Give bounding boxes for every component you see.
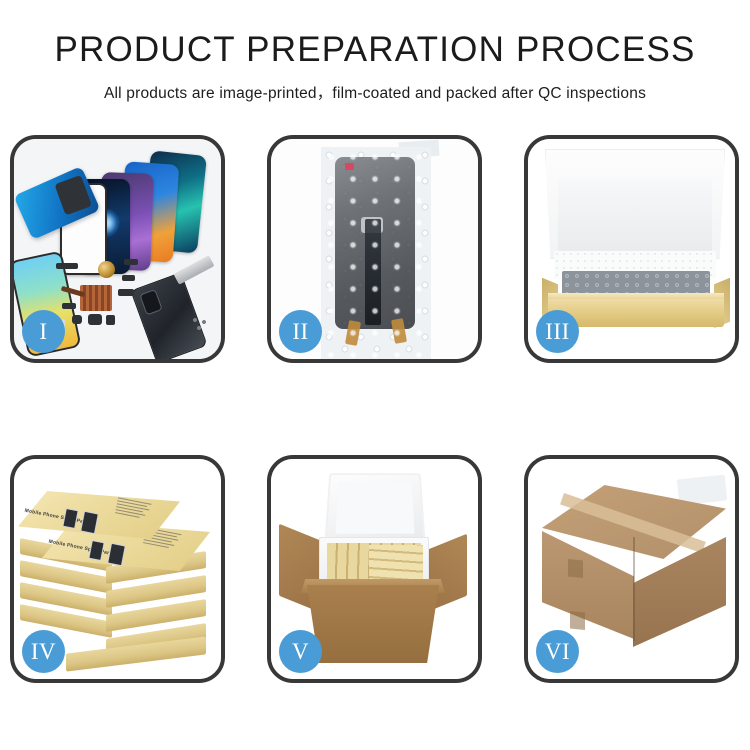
carton-handle-tab-upper-icon bbox=[568, 559, 583, 578]
step-panel-ii: II bbox=[267, 135, 482, 363]
page-title: PRODUCT PREPARATION PROCESS bbox=[0, 30, 750, 70]
process-steps-grid: I II bbox=[10, 135, 740, 683]
step-panel-iii: III bbox=[524, 135, 739, 363]
step-badge-i: I bbox=[22, 310, 65, 353]
carton-corner-seam-icon bbox=[633, 537, 635, 641]
step-badge-ii: II bbox=[279, 310, 322, 353]
step-badge-iii: III bbox=[536, 310, 579, 353]
step-panel-iv: Mobile Phone Spare Parts Mobile Phone Sp… bbox=[10, 455, 225, 683]
chip-array-icon bbox=[80, 285, 112, 311]
product-preparation-infographic: PRODUCT PREPARATION PROCESS All products… bbox=[0, 0, 750, 750]
step-panel-i: I bbox=[10, 135, 225, 363]
step-panel-vi: VI bbox=[524, 455, 739, 683]
inner-box-lid-inner-icon bbox=[558, 179, 712, 259]
step-panel-v: V bbox=[267, 455, 482, 683]
page-subtitle: All products are image-printed，film-coat… bbox=[0, 81, 750, 103]
carton-handle-tab-lower-icon bbox=[570, 611, 585, 630]
styrofoam-lid-icon bbox=[324, 473, 425, 542]
screws-icon bbox=[192, 317, 212, 331]
step-badge-vi: VI bbox=[536, 630, 579, 673]
step-badge-v: V bbox=[279, 630, 322, 673]
bubble-texture-overlay bbox=[321, 147, 431, 359]
header: PRODUCT PREPARATION PROCESS All products… bbox=[0, 0, 750, 103]
copper-coil-icon bbox=[98, 261, 115, 278]
step-badge-iv: IV bbox=[22, 630, 65, 673]
carton-body-icon bbox=[307, 585, 439, 663]
